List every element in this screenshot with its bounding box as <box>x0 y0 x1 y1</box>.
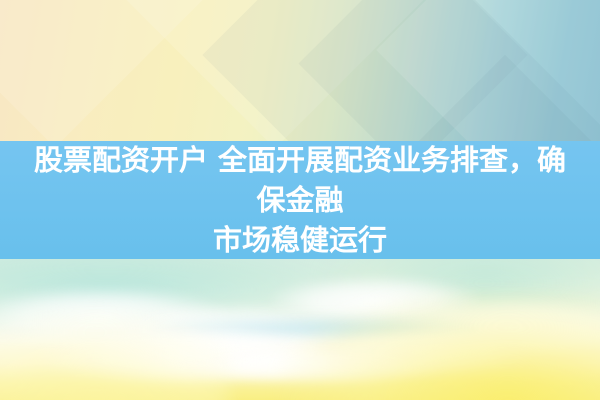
bottom-sky-panel <box>0 259 600 400</box>
banner-image: 股票配资开户 全面开展配资业务排查，确保金融 市场稳健运行 <box>0 0 600 400</box>
yellow-glow-left-shape <box>0 310 230 400</box>
headline-band: 股票配资开户 全面开展配资业务排查，确保金融 市场稳健运行 <box>0 141 600 259</box>
headline-text: 股票配资开户 全面开展配资业务排查，确保金融 市场稳健运行 <box>20 140 580 260</box>
top-geometric-panel <box>0 0 600 141</box>
yellow-glow-right-shape <box>280 290 600 400</box>
